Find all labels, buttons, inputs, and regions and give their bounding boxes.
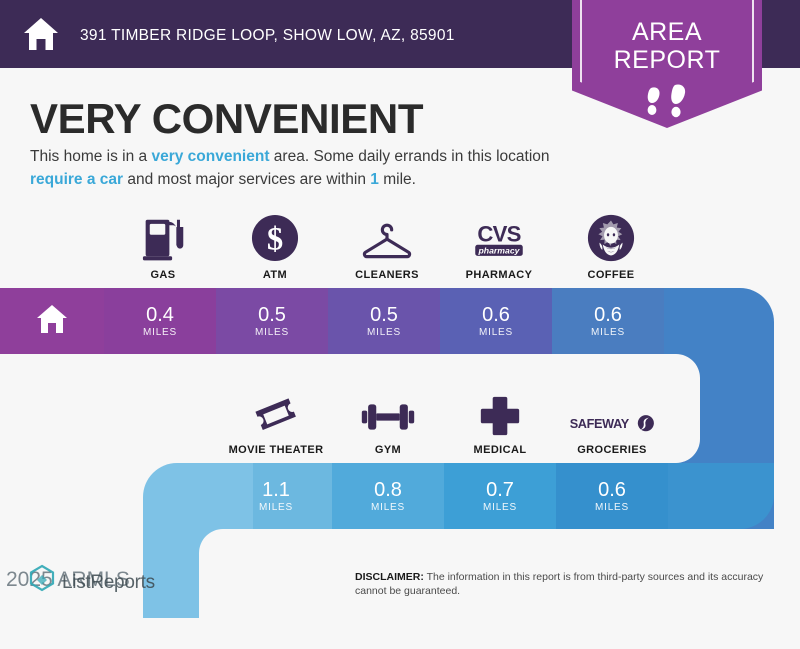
- amenity-label: PHARMACY: [443, 269, 555, 281]
- distance-value: 0.5: [258, 304, 286, 326]
- amenity-cleaners: CLEANERS: [331, 210, 443, 281]
- svg-text:$: $: [267, 222, 283, 258]
- ribbon-cell-groceries: 0.6 MILES: [556, 463, 668, 529]
- distance-value: 0.5: [370, 304, 398, 326]
- amenity-gym: GYM: [332, 385, 444, 456]
- distance-unit: MILES: [259, 502, 293, 513]
- amenity-label: GAS: [107, 269, 219, 281]
- badge-line2: REPORT: [572, 46, 762, 74]
- amenity-label: GROCERIES: [556, 444, 668, 456]
- disclaimer-label: DISCLAIMER:: [355, 571, 424, 583]
- amenity-gas: GAS: [107, 210, 219, 281]
- ribbon-home-cell: [0, 288, 104, 354]
- medical-cross-icon: [444, 385, 556, 437]
- home-icon: [22, 16, 60, 52]
- amenity-label: MOVIE THEATER: [220, 444, 332, 456]
- distance-value: 0.4: [146, 304, 174, 326]
- amenity-pharmacy: CVS pharmacy PHARMACY: [443, 210, 555, 281]
- badge-line1: AREA: [572, 18, 762, 46]
- badge-title: AREA REPORT: [572, 18, 762, 74]
- ribbon-cell-atm: 0.5 MILES: [216, 288, 328, 354]
- area-report-page: 391 TIMBER RIDGE LOOP, SHOW LOW, AZ, 859…: [0, 0, 800, 618]
- safeway-logo: SAFEWAY: [556, 385, 668, 437]
- hanger-icon: [331, 210, 443, 262]
- desc-highlight-2: require a car: [30, 171, 123, 188]
- ribbon-cell-gas: 0.4 MILES: [104, 288, 216, 354]
- page-title: VERY CONVENIENT: [30, 95, 423, 143]
- distance-unit: MILES: [591, 327, 625, 338]
- amenity-label: MEDICAL: [444, 444, 556, 456]
- amenity-label: GYM: [332, 444, 444, 456]
- distance-unit: MILES: [367, 327, 401, 338]
- amenity-label: COFFEE: [555, 269, 667, 281]
- home-icon: [35, 303, 69, 340]
- distance-unit: MILES: [483, 502, 517, 513]
- ribbon-cell-medical: 0.7 MILES: [444, 463, 556, 529]
- movie-ticket-icon: [220, 385, 332, 437]
- cvs-pharmacy-logo: CVS pharmacy: [443, 210, 555, 262]
- distance-unit: MILES: [371, 502, 405, 513]
- amenity-coffee: COFFEE: [555, 210, 667, 281]
- footprints-icon: [645, 84, 693, 118]
- distance-unit: MILES: [595, 502, 629, 513]
- ribbon-cell-gym: 0.8 MILES: [332, 463, 444, 529]
- desc-highlight-3: 1: [370, 171, 379, 188]
- distance-unit: MILES: [255, 327, 289, 338]
- distance-value: 0.6: [594, 304, 622, 326]
- disclaimer: DISCLAIMER: The information in this repo…: [355, 570, 775, 598]
- amenity-movie-theater: MOVIE THEATER: [220, 385, 332, 456]
- distance-value: 0.6: [482, 304, 510, 326]
- distance-value: 1.1: [262, 479, 290, 501]
- ribbon-cell-pharmacy: 0.6 MILES: [440, 288, 552, 354]
- desc-text-1: This home is in a: [30, 148, 151, 165]
- amenity-label: CLEANERS: [331, 269, 443, 281]
- page-description: This home is in a very convenient area. …: [30, 145, 575, 191]
- desc-highlight-1: very convenient: [151, 148, 269, 165]
- amenity-groceries: SAFEWAY GROCERIES: [556, 385, 668, 456]
- ribbon-cell-coffee: 0.6 MILES: [552, 288, 664, 354]
- distance-value: 0.6: [598, 479, 626, 501]
- ribbon-right-turn-lower: [664, 463, 774, 529]
- desc-text-3: and most major services are within: [123, 171, 370, 188]
- dollar-circle-icon: $: [219, 210, 331, 262]
- distance-value: 0.8: [374, 479, 402, 501]
- svg-text:SAFEWAY: SAFEWAY: [570, 417, 630, 431]
- desc-text-2: area. Some daily errands in this locatio…: [270, 148, 550, 165]
- distance-value: 0.7: [486, 479, 514, 501]
- amenity-label: ATM: [219, 269, 331, 281]
- ribbon-cell-cleaners: 0.5 MILES: [328, 288, 440, 354]
- svg-text:pharmacy: pharmacy: [477, 245, 520, 255]
- amenity-medical: MEDICAL: [444, 385, 556, 456]
- dumbbell-icon: [332, 385, 444, 437]
- distance-unit: MILES: [143, 327, 177, 338]
- gas-pump-icon: [107, 210, 219, 262]
- property-address: 391 TIMBER RIDGE LOOP, SHOW LOW, AZ, 859…: [80, 27, 455, 45]
- distance-unit: MILES: [479, 327, 513, 338]
- starbucks-logo: [555, 210, 667, 262]
- listreports-wordmark: ListReports: [62, 572, 155, 594]
- desc-text-4: mile.: [379, 171, 416, 188]
- amenity-atm: $ ATM: [219, 210, 331, 281]
- svg-text:CVS: CVS: [477, 222, 520, 247]
- listreports-logo: [28, 564, 56, 592]
